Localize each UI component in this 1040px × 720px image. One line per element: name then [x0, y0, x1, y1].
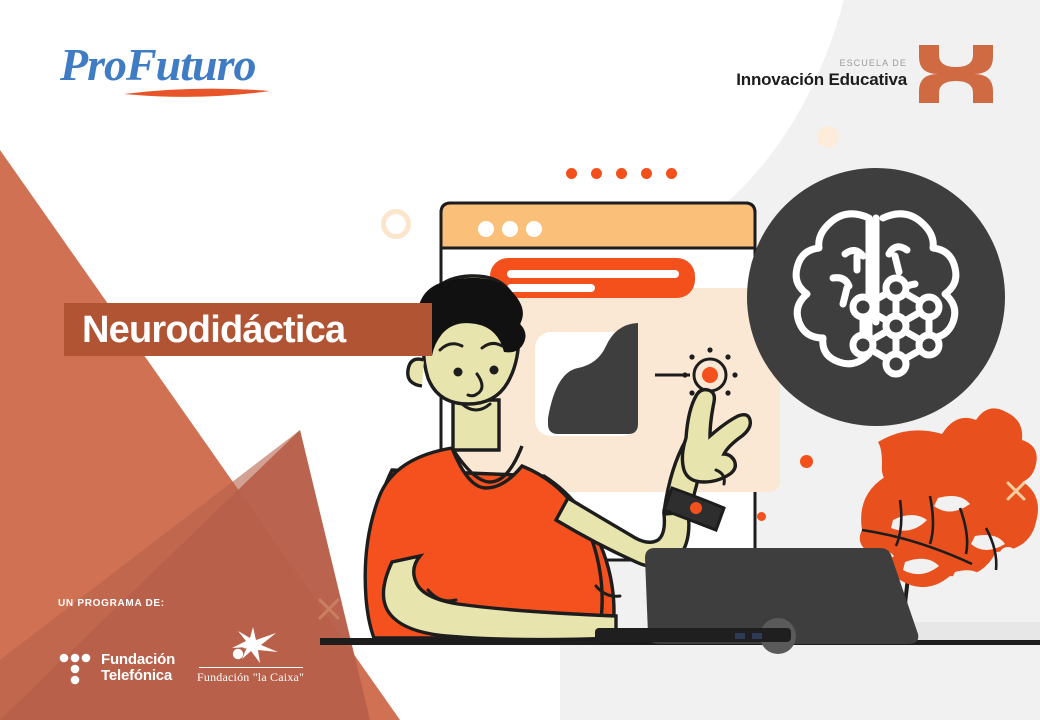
decorative-dot [666, 168, 677, 179]
decorative-dot [566, 168, 577, 179]
escuela-logo-supertitle: ESCUELA DE [736, 59, 907, 68]
sponsors-block: UN PROGRAMA DE: Fundación Telefónica [58, 598, 304, 685]
escuela-innovacion-logo[interactable]: ESCUELA DE Innovación Educativa [736, 45, 995, 103]
lacaixa-divider [199, 667, 303, 668]
profuturo-logo-text: ProFuturo [59, 39, 256, 90]
decorative-dot-row [566, 168, 677, 179]
decorative-dot [591, 168, 602, 179]
slide-canvas: ProFuturo ESCUELA DE Innovación Educativ… [0, 0, 1040, 720]
slide-title-banner: Neurodidáctica [64, 303, 432, 356]
decorative-ring-peach [381, 209, 411, 239]
brain-badge [747, 168, 1005, 426]
telefonica-line2: Telefónica [101, 668, 175, 684]
telefonica-wordmark: Fundación Telefónica [101, 652, 175, 684]
fundacion-lacaixa-logo[interactable]: Fundación "la Caixa" [197, 625, 304, 685]
decorative-dot-peach-large [817, 126, 839, 148]
lacaixa-caption: Fundación "la Caixa" [197, 670, 304, 685]
decorative-dot-orange-right [800, 455, 813, 468]
escuela-logo-text: ESCUELA DE Innovación Educativa [736, 59, 907, 88]
decorative-x-mark [1005, 480, 1027, 502]
profuturo-logo[interactable]: ProFuturo [58, 38, 288, 108]
page-title: Neurodidáctica [82, 311, 345, 349]
telefonica-dots-icon [58, 651, 92, 685]
decorative-x-mark [316, 596, 342, 622]
lacaixa-star-icon [220, 625, 282, 665]
fundacion-telefonica-logo[interactable]: Fundación Telefónica [58, 651, 175, 685]
decorative-dot-orange-small [757, 512, 766, 521]
decorative-dot [616, 168, 627, 179]
sponsors-row: Fundación Telefónica Fundación "la Caixa… [58, 625, 304, 685]
decorative-dot [641, 168, 652, 179]
telefonica-line1: Fundación [101, 652, 175, 668]
escuela-logo-title: Innovación Educativa [736, 71, 907, 89]
x-shape-mark-icon [917, 45, 995, 103]
sponsors-label: UN PROGRAMA DE: [58, 598, 304, 609]
brain-network-icon [783, 202, 969, 392]
